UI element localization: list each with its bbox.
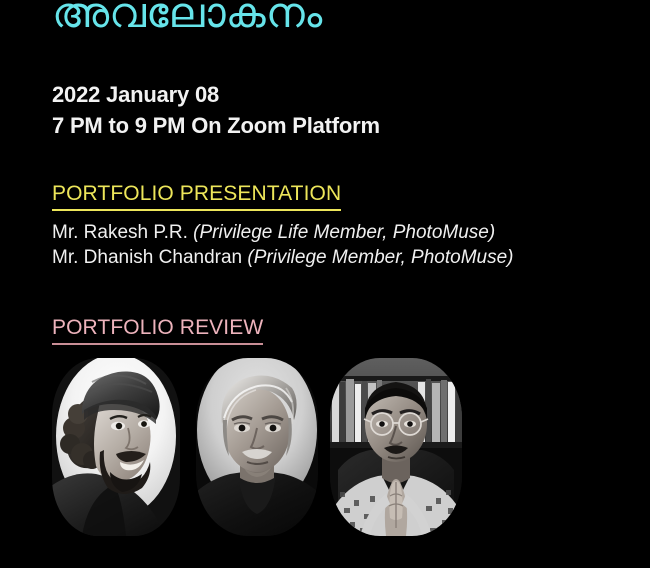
event-time-platform: 7 PM to 9 PM On Zoom Platform [52, 110, 380, 141]
event-schedule: 2022 January 08 7 PM to 9 PM On Zoom Pla… [52, 79, 380, 141]
presenter-affiliation: (Privilege Life Member, PhotoMuse) [193, 222, 495, 243]
presenter-row: Mr. Rakesh P.R. (Privilege Life Member, … [52, 220, 514, 245]
section-heading-portfolio-presentation: PORTFOLIO PRESENTATION [52, 182, 341, 211]
section-heading-portfolio-review: PORTFOLIO REVIEW [52, 316, 263, 345]
presenter-affiliation: (Privilege Member, PhotoMuse) [247, 247, 513, 268]
reviewer-portrait-image [196, 358, 318, 536]
page-title: അവലോകനം [52, 0, 322, 36]
presenter-row: Mr. Dhanish Chandran (Privilege Member, … [52, 245, 514, 270]
event-poster-slide: അവലോകനം 2022 January 08 7 PM to 9 PM On … [0, 0, 650, 568]
reviewer-photo-strip [52, 358, 462, 538]
reviewer-portrait-image [52, 358, 180, 536]
presenter-name: Mr. Rakesh P.R. [52, 222, 188, 243]
presenter-list: Mr. Rakesh P.R. (Privilege Life Member, … [52, 220, 514, 270]
event-date: 2022 January 08 [52, 79, 380, 110]
reviewer-portrait [330, 358, 462, 536]
reviewer-portrait-image [330, 358, 462, 536]
presenter-name: Mr. Dhanish Chandran [52, 247, 242, 268]
reviewer-portrait [52, 358, 180, 536]
reviewer-portrait [196, 358, 318, 536]
